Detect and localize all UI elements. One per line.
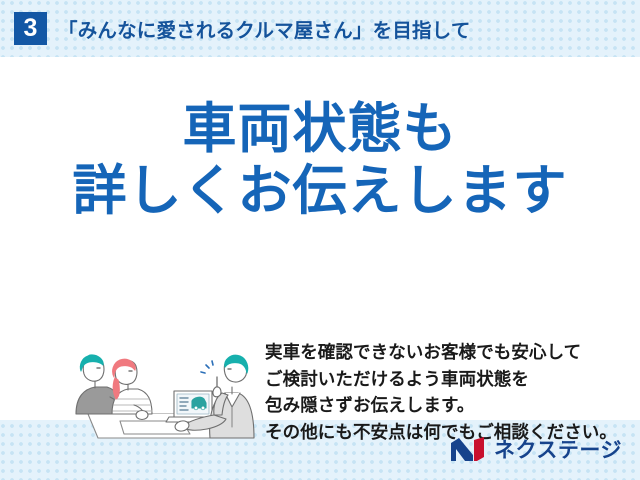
body-copy-line-1: 実車を確認できないお客様でも安心して [265, 340, 615, 367]
headline-line-2: 詳しくお伝えします [0, 160, 640, 222]
brand-logo: ネクステージ [450, 434, 622, 464]
banner-footer: ネクステージ [0, 420, 640, 480]
headline: 車両状態も 詳しくお伝えします [0, 98, 640, 222]
body-copy-line-2: ご検討いただけるよう車両状態を [265, 367, 615, 394]
promo-banner: 3 「みんなに愛されるクルマ屋さん」を目指して 車両状態も 詳しくお伝えします [0, 0, 640, 480]
brand-name: ネクステージ [494, 434, 622, 464]
body-copy-line-3: 包み隠さずお伝えします。 [265, 393, 615, 420]
headline-line-1: 車両状態も [0, 98, 640, 160]
content-card: 車両状態も 詳しくお伝えします [0, 57, 640, 420]
step-number-badge: 3 [14, 12, 47, 45]
banner-header: 3 「みんなに愛されるクルマ屋さん」を目指して [0, 0, 640, 57]
n-mark-logo-icon [450, 436, 488, 463]
header-title: 「みんなに愛されるクルマ屋さん」を目指して [58, 14, 471, 43]
